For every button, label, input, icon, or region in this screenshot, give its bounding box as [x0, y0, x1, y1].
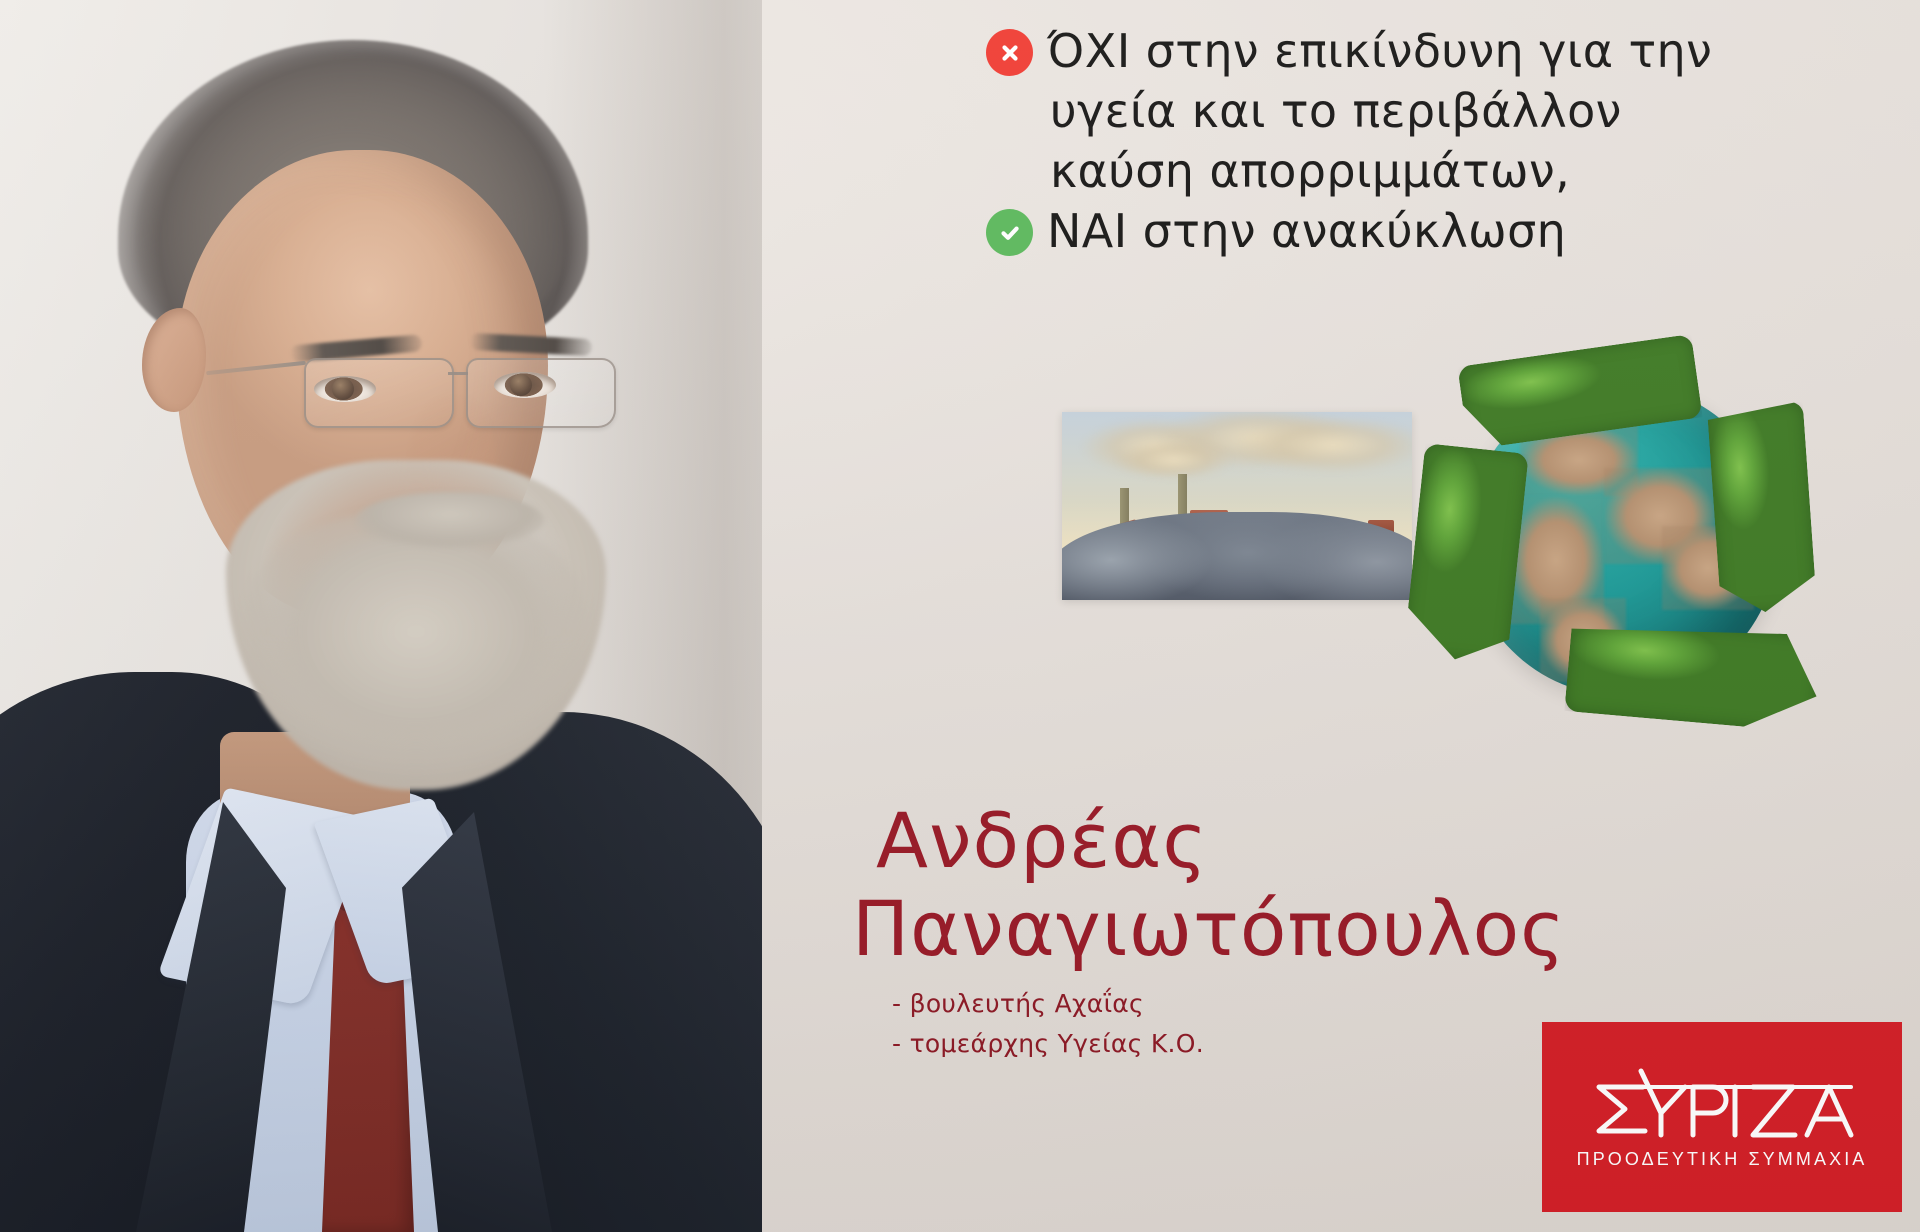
candidate-portrait-photo: [0, 0, 762, 1232]
smoke-plume: [1114, 440, 1234, 480]
lens-right: [466, 358, 616, 428]
slogan-line: καύση απορριμμάτων,: [986, 142, 1754, 200]
eyeglasses: [268, 346, 628, 438]
trash-pile: [1062, 512, 1412, 600]
slogan-text-health-environment: υγεία και το περιβάλλον: [1050, 82, 1622, 140]
candidate-name-block: Ανδρέας Παναγιωτόπουλος - βουλευτής Αχαΐ…: [876, 800, 1636, 1064]
recycle-arrow-right: [1707, 401, 1817, 615]
credential-health-sector-head: - τομεάρχης Υγείας Κ.Ο.: [892, 1024, 1636, 1064]
candidate-last-name: Παναγιωτόπουλος: [852, 886, 1636, 972]
candidate-first-name: Ανδρέας: [876, 800, 1636, 882]
slogan-text-no-incineration: ΌΧΙ στην επικίνδυνη για την: [1047, 22, 1712, 80]
landfill-incineration-photo: [1062, 412, 1412, 600]
credential-mp-achaia: - βουλευτής Αχαΐας: [892, 984, 1636, 1024]
slogan-line: υγεία και το περιβάλλον: [986, 82, 1754, 140]
recycle-arrow-left: [1403, 443, 1529, 665]
recycle-arrow-bottom: [1564, 615, 1821, 732]
recycling-globe-image: [1418, 340, 1822, 740]
candidate-credentials: - βουλευτής Αχαΐας - τομεάρχης Υγείας Κ.…: [892, 984, 1636, 1064]
head: [118, 40, 588, 660]
glasses-bridge: [448, 372, 468, 375]
slogan-block: ΌΧΙ στην επικίνδυνη για την υγεία και το…: [986, 22, 1754, 262]
campaign-poster: ΌΧΙ στην επικίνδυνη για την υγεία και το…: [0, 0, 1920, 1232]
slogan-text-waste-burning: καύση απορριμμάτων,: [1050, 142, 1570, 200]
slogan-line: ΝΑΙ στην ανακύκλωση: [986, 202, 1754, 260]
slogan-text-yes-recycling: ΝΑΙ στην ανακύκλωση: [1047, 202, 1566, 260]
syriza-tagline: ΠΡΟΟΔΕΥΤΙΚΗ ΣΥΜΜΑΧΙΑ: [1577, 1149, 1868, 1170]
check-circle-icon: [986, 209, 1033, 256]
slogan-line: ΌΧΙ στην επικίνδυνη για την: [986, 22, 1754, 80]
syriza-wordmark-icon: [1589, 1065, 1855, 1143]
mustache: [356, 492, 544, 548]
x-circle-icon: [986, 29, 1033, 76]
lens-left: [304, 358, 454, 428]
syriza-logo: ΠΡΟΟΔΕΥΤΙΚΗ ΣΥΜΜΑΧΙΑ: [1542, 1022, 1902, 1212]
